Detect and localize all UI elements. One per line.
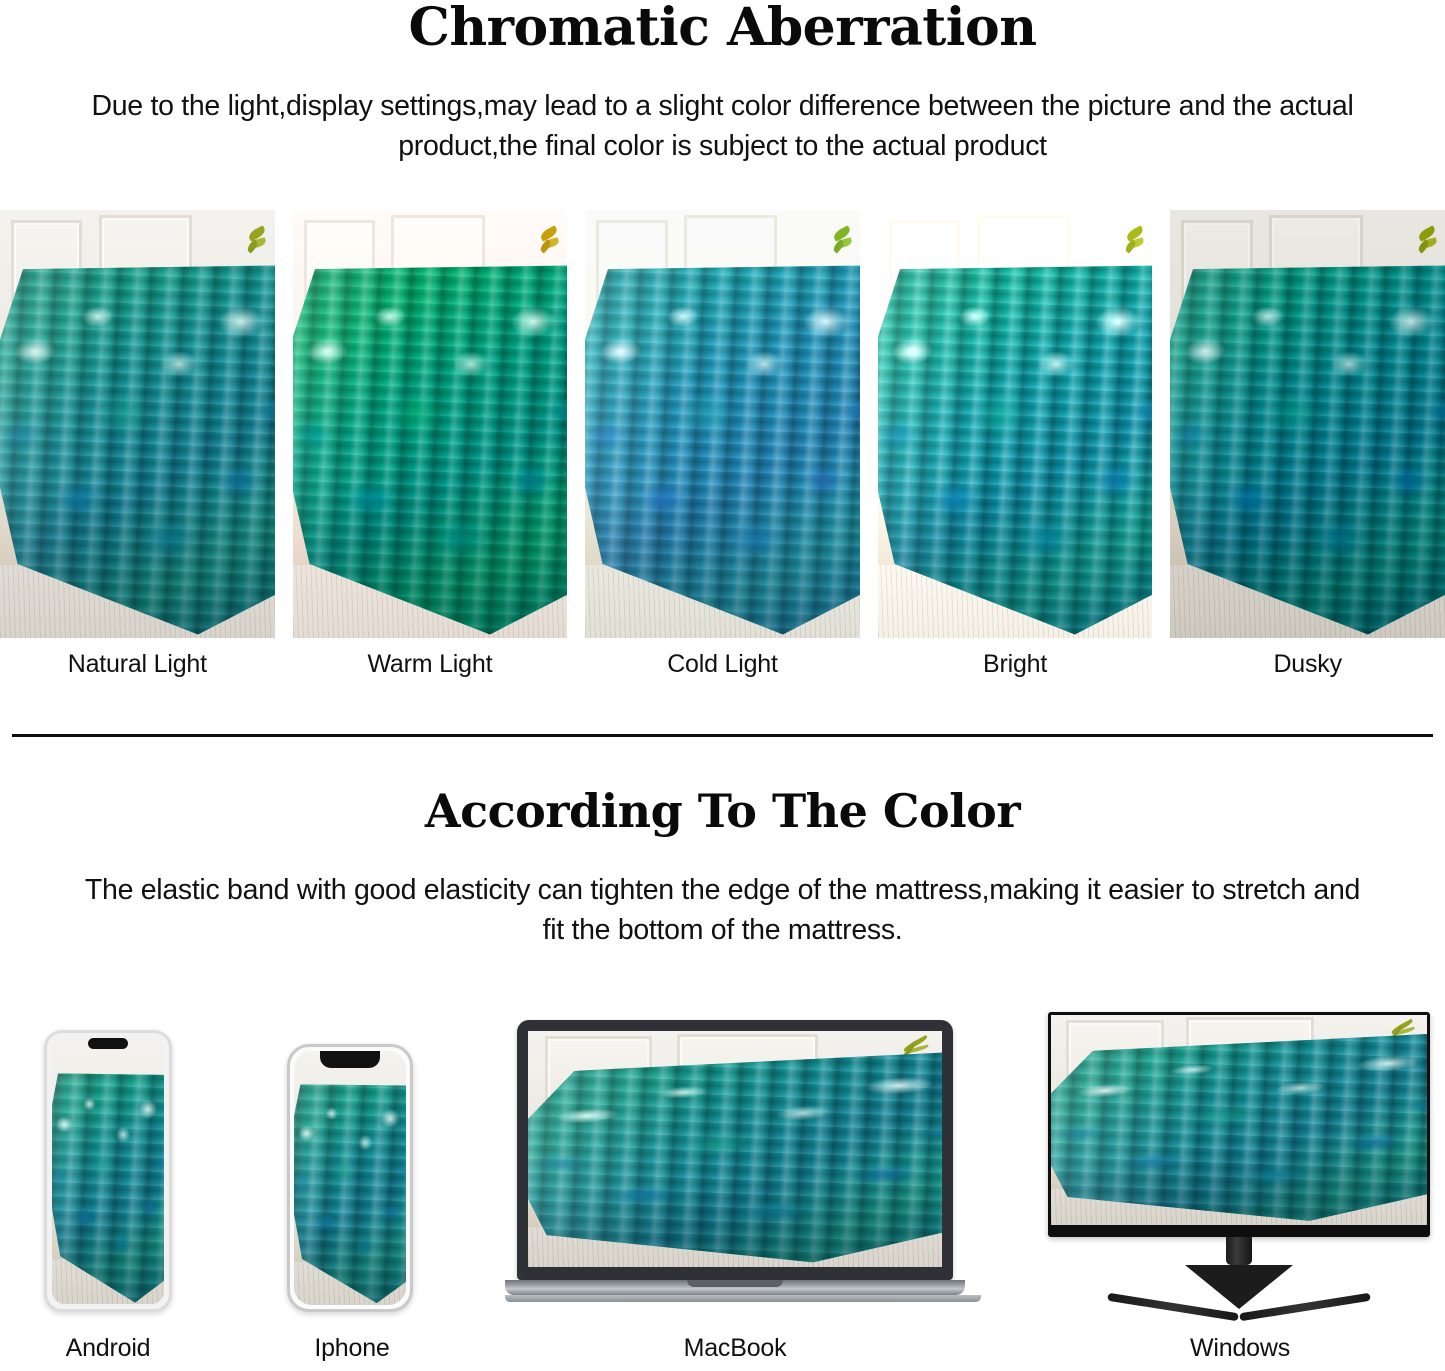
macbook-base [505,1280,965,1295]
monitor-stand-neck [1226,1237,1252,1265]
according-to-the-color-description: The elastic band with good elasticity ca… [0,870,1445,951]
camera-punch-hole-icon [88,1038,128,1049]
lighting-caption-row: Natural Light Warm Light Cold Light Brig… [0,650,1445,679]
lighting-panel-dusky [1170,210,1445,638]
lighting-caption-warm-light: Warm Light [293,650,568,679]
device-mockup-iphone [287,1044,413,1312]
macbook-screen [528,1031,942,1267]
blanket-room-scene [293,210,568,638]
device-caption-row: Android Iphone MacBook Windows [0,1334,1445,1371]
section-divider [12,734,1433,737]
page-title-chromatic-aberration: Chromatic Aberration [0,0,1445,54]
device-caption-iphone: Iphone [272,1334,432,1363]
blanket-room-scene [1170,210,1445,638]
lighting-caption-dusky: Dusky [1170,650,1445,679]
lighting-caption-bright: Bright [878,650,1153,679]
lighting-comparison-strip [0,210,1445,638]
device-mockup-android [44,1030,172,1312]
lighting-caption-natural-light: Natural Light [0,650,275,679]
device-caption-android: Android [28,1334,188,1363]
iphone-body [287,1044,413,1312]
device-mockup-windows-monitor [1048,1012,1430,1312]
page-title-according-to-the-color: According To The Color [0,788,1445,834]
chromatic-aberration-description: Due to the light,display settings,may le… [0,86,1445,167]
monitor-stand-feet [1111,1303,1367,1321]
device-display-row [0,1012,1445,1312]
macbook-front-edge [505,1295,981,1302]
device-mockup-macbook [505,1020,965,1312]
lighting-caption-cold-light: Cold Light [585,650,860,679]
device-caption-macbook: MacBook [655,1334,815,1363]
lighting-panel-cold-light [585,210,860,638]
teal-ribbed-blanket [528,1043,942,1267]
iphone-screen [294,1051,406,1305]
lighting-panel-natural-light [0,210,275,638]
lighting-panel-warm-light [293,210,568,638]
macbook-lid [517,1020,953,1280]
monitor-panel [1048,1012,1430,1237]
blanket-room-scene [0,210,275,638]
monitor-screen [1051,1015,1427,1225]
notch-icon [320,1051,380,1068]
blanket-room-scene [878,210,1153,638]
blanket-room-scene [52,1038,164,1304]
lighting-panel-bright [878,210,1153,638]
blanket-room-scene [294,1051,406,1305]
blanket-room-scene [585,210,860,638]
teal-ribbed-blanket [1051,1025,1427,1225]
device-caption-windows: Windows [1160,1334,1320,1363]
android-phone-body [44,1030,172,1312]
blanket-room-scene [528,1031,942,1267]
android-phone-screen [52,1038,164,1304]
blanket-room-scene [1051,1015,1427,1225]
